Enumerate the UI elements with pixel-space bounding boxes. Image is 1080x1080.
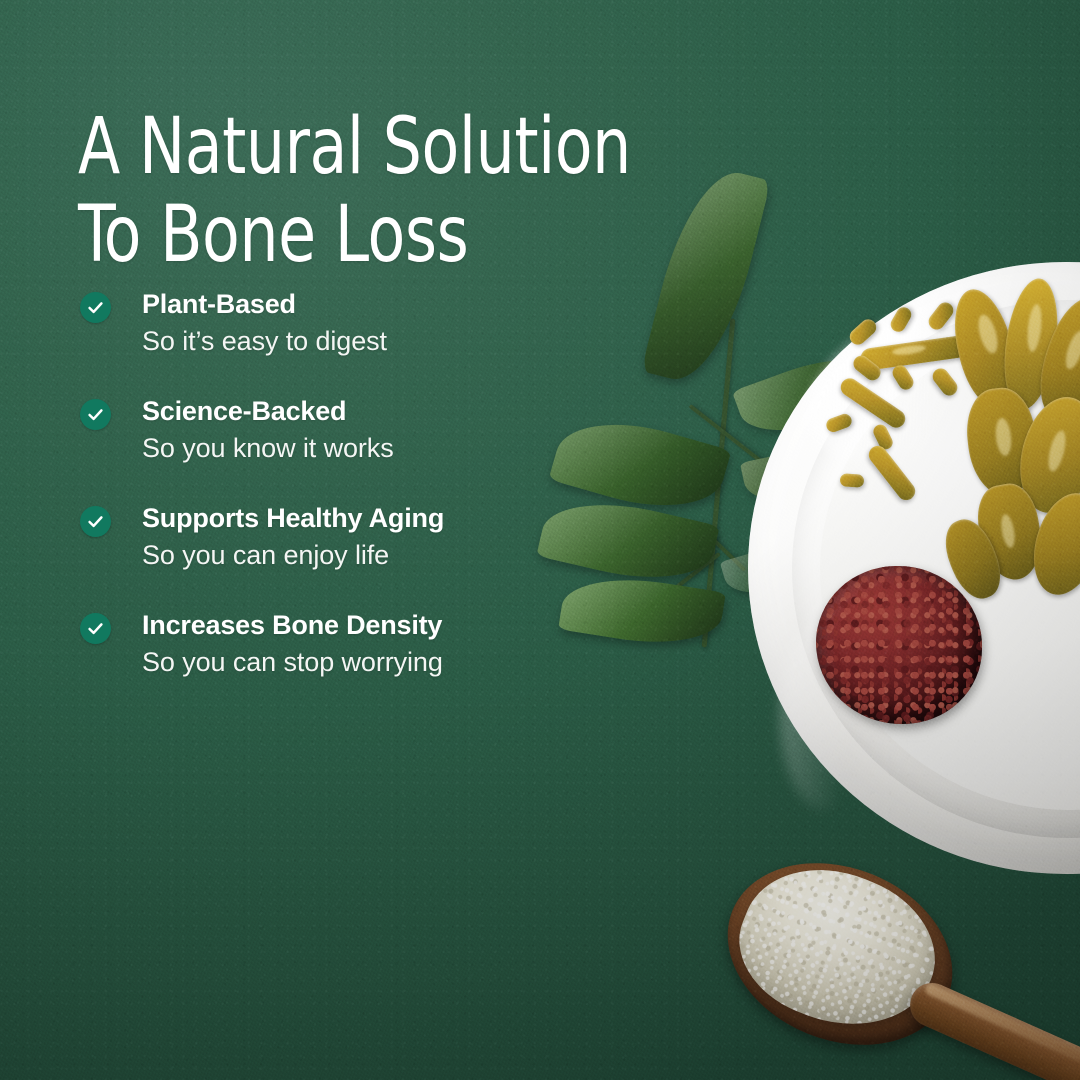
list-item: Increases Bone Density So you can stop w…	[80, 609, 680, 680]
plate-rim	[792, 300, 1080, 838]
list-item: Plant-Based So it’s easy to digest	[80, 288, 680, 359]
check-icon	[80, 292, 111, 323]
benefit-subtitle: So you can stop worrying	[142, 645, 680, 680]
list-item: Supports Healthy Aging So you can enjoy …	[80, 502, 680, 573]
sea-moss-powder	[719, 843, 956, 1054]
benefit-subtitle: So you know it works	[142, 431, 680, 466]
wooden-spoon-icon	[700, 862, 1080, 1080]
benefits-list: Plant-Based So it’s easy to digest Scien…	[80, 288, 680, 680]
red-sea-moss-ball-icon	[816, 566, 982, 724]
plate-highlight	[780, 620, 870, 810]
list-item: Science-Backed So you know it works	[80, 395, 680, 466]
check-icon	[80, 613, 111, 644]
check-icon	[80, 399, 111, 430]
leaf	[720, 536, 824, 605]
benefit-title: Science-Backed	[142, 395, 680, 428]
plate-shadow	[728, 290, 1080, 910]
plate-well	[820, 330, 1080, 810]
plate-highlight	[782, 278, 1028, 491]
check-icon	[80, 506, 111, 537]
leaf	[740, 438, 868, 514]
benefit-subtitle: So you can enjoy life	[142, 538, 680, 573]
benefit-title: Increases Bone Density	[142, 609, 680, 642]
product-benefits-graphic: A Natural Solution To Bone Loss Plant-Ba…	[0, 0, 1080, 1080]
leaf	[732, 340, 894, 450]
benefit-subtitle: So it’s easy to digest	[142, 324, 680, 359]
ceramic-plate	[748, 262, 1080, 874]
benefit-title: Plant-Based	[142, 288, 680, 321]
golden-sea-moss-icon	[830, 268, 1080, 648]
benefit-title: Supports Healthy Aging	[142, 502, 680, 535]
page-title: A Natural Solution To Bone Loss	[78, 104, 747, 279]
red-moss-ball-shadow	[818, 588, 996, 756]
